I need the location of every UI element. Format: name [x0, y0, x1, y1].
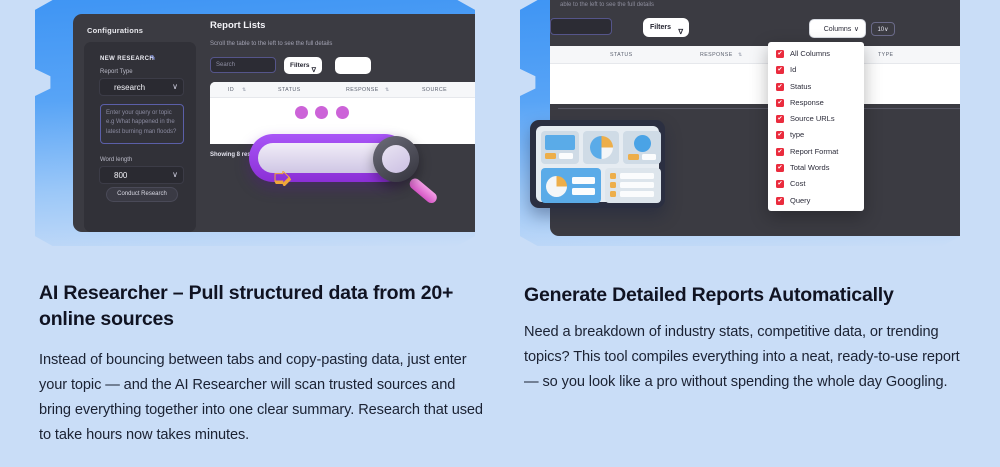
dashboard-illustration: [530, 120, 665, 208]
columns-label: Columns: [824, 26, 852, 33]
filter-icon: ∇: [312, 62, 316, 79]
word-length-label: Word length: [100, 157, 132, 163]
menu-item-report-format[interactable]: ✔ Report Format: [768, 144, 864, 160]
table-header-row: STATUS RESPONSE ⇅ TYPE: [550, 46, 960, 64]
search-input[interactable]: [550, 18, 612, 35]
query-textarea[interactable]: Enter your query or topic e.g What happe…: [100, 104, 184, 144]
checkbox-checked-icon[interactable]: ✔: [776, 83, 784, 91]
left-feature-body: Instead of bouncing between tabs and cop…: [39, 348, 491, 448]
right-feature-body: Need a breakdown of industry stats, comp…: [524, 320, 969, 395]
menu-item-label: All Columns: [790, 49, 830, 58]
menu-item-label: Cost: [790, 179, 805, 188]
report-type-select[interactable]: research ∨: [99, 78, 184, 96]
checkbox-checked-icon[interactable]: ✔: [776, 197, 784, 205]
chevron-down-icon: ∨: [884, 27, 888, 33]
filters-label: Filters: [650, 24, 671, 31]
scroll-hint-text: Scroll the table to the left to see the …: [210, 41, 332, 47]
menu-item-all-columns[interactable]: ✔ All Columns: [768, 46, 864, 62]
report-lists-title: Report Lists: [210, 20, 265, 31]
scroll-hint-text: able to the left to see the full details: [560, 2, 654, 8]
menu-item-label: Status: [790, 82, 811, 91]
search-input[interactable]: Search: [210, 57, 276, 73]
menu-item-label: Response: [790, 98, 824, 107]
menu-item-source-urls[interactable]: ✔ Source URLs: [768, 111, 864, 127]
report-type-value: research: [114, 83, 145, 92]
configurations-title: Configurations: [87, 26, 143, 35]
magnifier-lens: [382, 145, 410, 173]
pencil-icon[interactable]: ✎: [150, 55, 158, 63]
checkbox-checked-icon[interactable]: ✔: [776, 99, 784, 107]
menu-item-label: Source URLs: [790, 114, 835, 123]
menu-item-total-words[interactable]: ✔ Total Words: [768, 160, 864, 176]
loading-dot: [295, 106, 308, 119]
checkbox-checked-icon[interactable]: ✔: [776, 131, 784, 139]
dashboard-tile: [541, 168, 601, 203]
checkbox-checked-icon[interactable]: ✔: [776, 164, 784, 172]
columns-dropdown-button[interactable]: Columns ∨: [809, 19, 866, 38]
menu-item-status[interactable]: ✔ Status: [768, 79, 864, 95]
sort-icon[interactable]: ⇅: [385, 87, 389, 93]
menu-item-response[interactable]: ✔ Response: [768, 95, 864, 111]
sort-icon[interactable]: ⇅: [738, 52, 742, 58]
checkbox-checked-icon[interactable]: ✔: [776, 66, 784, 74]
magnifier-icon: [373, 136, 419, 182]
dashboard-screen: [536, 126, 659, 202]
right-feature-heading: Generate Detailed Reports Automatically: [524, 283, 984, 309]
column-header-id[interactable]: ID: [228, 87, 234, 93]
sort-icon[interactable]: ⇅: [242, 87, 246, 93]
column-header-response[interactable]: RESPONSE: [346, 87, 379, 93]
filters-button[interactable]: Filters ∇: [643, 18, 689, 37]
checkbox-checked-icon[interactable]: ✔: [776, 148, 784, 156]
checkbox-checked-icon[interactable]: ✔: [776, 50, 784, 58]
feature-cards-page: Configurations NEW RESEARCH ✎ Report Typ…: [0, 0, 1000, 467]
search-bar-illustration: ➭: [249, 122, 449, 212]
menu-item-cost[interactable]: ✔ Cost: [768, 176, 864, 192]
loading-dot: [336, 106, 349, 119]
menu-item-label: Total Words: [790, 163, 829, 172]
filter-icon: ∇: [678, 23, 683, 42]
configurations-panel: NEW RESEARCH ✎ Report Type research ∨ En…: [84, 42, 196, 232]
per-page-select[interactable]: 10∨: [871, 22, 895, 36]
left-feature-column: Configurations NEW RESEARCH ✎ Report Typ…: [35, 0, 515, 467]
reports-screenshot-card: able to the left to see the full details…: [520, 0, 960, 246]
menu-item-id[interactable]: ✔ Id: [768, 62, 864, 78]
filters-label: Filters: [290, 62, 310, 69]
chevron-down-icon: ∨: [172, 82, 178, 91]
column-header-status[interactable]: STATUS: [278, 87, 301, 93]
toolbar-extra-button[interactable]: [335, 57, 371, 74]
dashboard-tile: [541, 131, 579, 164]
checkbox-checked-icon[interactable]: ✔: [776, 180, 784, 188]
menu-item-type[interactable]: ✔ type: [768, 127, 864, 143]
dashboard-tile: [623, 131, 661, 164]
checkbox-checked-icon[interactable]: ✔: [776, 115, 784, 123]
dashboard-tile: [605, 168, 661, 203]
column-header-source[interactable]: SOURCE: [422, 87, 447, 93]
new-research-label: NEW RESEARCH: [100, 56, 154, 62]
word-length-value: 800: [114, 171, 127, 180]
column-header-response[interactable]: RESPONSE: [700, 52, 733, 58]
chevron-down-icon: ∨: [854, 20, 859, 39]
magnifier-handle: [407, 176, 439, 205]
word-length-select[interactable]: 800 ∨: [99, 166, 184, 184]
menu-item-label: type: [790, 130, 804, 139]
chevron-down-icon: ∨: [172, 170, 178, 179]
menu-item-label: Report Format: [790, 147, 838, 156]
menu-item-label: Id: [790, 65, 796, 74]
filters-button[interactable]: Filters ∇: [284, 57, 322, 74]
columns-dropdown-menu: ✔ All Columns ✔ Id ✔ Status ✔ Response: [768, 42, 864, 211]
column-header-status[interactable]: STATUS: [610, 52, 633, 58]
reports-table: STATUS RESPONSE ⇅ TYPE: [550, 46, 960, 104]
table-divider: [558, 108, 960, 109]
table-header-row: ID ⇅ STATUS RESPONSE ⇅ SOURCE: [210, 82, 475, 98]
menu-item-label: Query: [790, 196, 810, 205]
column-header-type[interactable]: TYPE: [878, 52, 893, 58]
menu-item-query[interactable]: ✔ Query: [768, 193, 864, 209]
right-feature-column: able to the left to see the full details…: [520, 0, 1000, 467]
left-feature-heading: AI Researcher – Pull structured data fro…: [39, 281, 484, 332]
conduct-research-button[interactable]: Conduct Research: [106, 187, 178, 202]
dashboard-tile: [583, 131, 619, 164]
ai-researcher-screenshot-card: Configurations NEW RESEARCH ✎ Report Typ…: [35, 0, 475, 246]
report-type-label: Report Type: [100, 69, 133, 75]
loading-dot: [315, 106, 328, 119]
